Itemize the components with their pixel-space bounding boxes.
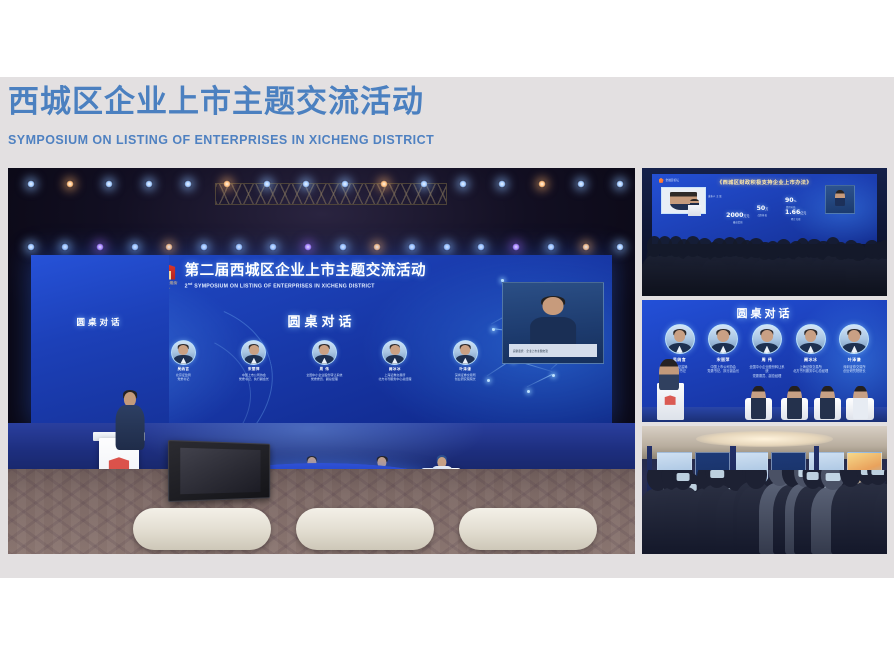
policy-stat: 90%费用补贴 [785,197,796,209]
panelist-avatar [796,324,826,354]
audience-crowd [642,217,887,296]
panelist-title: 深圳证券交易所创业研究院院长 [440,373,490,381]
panelist-avatar [839,324,869,354]
ceiling-lamp-icon [339,243,347,251]
policy-stat-value: 50万 [757,205,769,212]
panelist: 周 伟全国中小企业股份转让系统党委委员、副总经理 [300,340,350,382]
policy-stat-unit: 万 [765,207,768,211]
panelist-avatar [665,324,695,354]
ceiling-lamp-icon [373,243,381,251]
face-mask-icon [710,470,724,478]
side-led-panel: 圆桌对话 [31,255,169,425]
ceiling-lamp-icon [512,243,520,251]
ceiling-lamp-icon [408,243,416,251]
network-edge [526,374,551,387]
panelist: 阙冰冰上海证券交易所北方书刊服务中心总经理 [370,340,420,382]
photo-report-page: 西城区企业上市主题交流活动 SYMPOSIUM ON LISTING OF EN… [0,0,894,650]
panel-seating-area [745,378,882,422]
screen-panelist-row: 吴纳言北京证监局党委书记宋丽萍中国上市公司协会党委书记、执行副会长周 伟全国中小… [159,340,491,382]
panelist-avatar [171,340,196,365]
panelist-name: 叶泽谦 [440,367,490,372]
panelist-avatar [382,340,407,365]
panelist-name: 宋丽萍 [705,357,741,363]
panelist-name: 宋丽萍 [229,367,279,372]
ceiling-lamp-icon [582,243,590,251]
ceiling-lamp-icon [420,180,428,188]
ceiling-lamp-icon [341,180,349,188]
screen-title-cn: 第二届西城区企业上市主题交流活动 [185,264,427,280]
ceiling-lamp-icon [477,243,485,251]
policy-stat-value: 1.66亿元 [785,209,806,216]
ceiling-lamp-icon [302,180,310,188]
ceiling-lamp-icon [498,180,506,188]
panelist-title: 全国中小企业股份转让系统党委委员、副总经理 [300,373,350,381]
panel-seat [745,385,772,420]
ceiling-lamp-icon [263,180,271,188]
policy-presentation-photo[interactable]: 金融街论坛 《西城区财政积极支持企业上市办法》 发布人 王 某 2000万元最高… [642,168,887,296]
photo-gallery: 金融街论坛 金融街论坛系列活动 北京金融街 BEIJING FINANCIAL … [8,168,887,554]
panelist-row: 吴纳言北京证监局党委书记宋丽萍中国上市公司协会党委书记、执行副会长周 伟全国中小… [662,324,873,378]
ceiling-lamp-icon [96,243,104,251]
ceiling-lamp-icon [131,243,139,251]
roundtable-section-title: 圆桌对话 [642,305,887,321]
speaker-label: 发布人 王 某 [708,195,721,199]
attendee-crowd [642,470,887,554]
policy-stat-value: 90% [785,197,796,204]
page-subtitle: SYMPOSIUM ON LISTING OF ENTERPRISES IN X… [8,133,628,147]
ceiling-lamp-icon [145,180,153,188]
seated-panelist [820,386,835,419]
ceiling-lamp-icon [459,180,467,188]
panelist-title: 上海证券交易所北方书刊服务中心总经理 [370,373,420,381]
ceiling-lamp-icon [616,180,624,188]
screen-speaker-inset [825,185,854,214]
network-node-icon [527,390,530,393]
ceiling-lamp-icon [577,180,585,188]
standing-speaker [116,392,145,450]
standing-speaker [659,359,679,391]
panelist: 叶泽谦深圳证券交易所创业研究院院长 [440,340,490,382]
ceiling-lamp-row-lower [27,243,616,252]
panelist-title: 中国上市公司协会党委书记、执行副会长 [705,365,741,374]
face-mask-icon [677,473,690,481]
panelist-title: 上海证券交易所北方书刊服务中心总经理 [793,365,829,374]
inset-speaker-figure [530,297,576,349]
ceiling-lamp-row-upper [27,180,616,189]
ceiling-lamp-icon [547,243,555,251]
panelist-title: 全国中小企业股份转让系统党委委员、副总经理 [749,365,785,378]
screen-title-block: 北京金融街 BEIJING FINANCIAL STREET 第二届西城区企业上… [159,264,520,290]
panelist-avatar [312,340,337,365]
ceiling-lamp-icon [235,243,243,251]
panelist: 宋丽萍中国上市公司协会党委书记、执行副会长 [705,324,741,378]
panelist-avatar [708,324,738,354]
foreground-monitor [168,440,271,502]
foreground-seat [296,508,434,550]
ceiling-lamp-icon [538,180,546,188]
panelist-name: 周 伟 [749,357,785,363]
seated-panelist [787,386,802,419]
ceiling-lamp-icon [223,180,231,188]
panelist: 阙冰冰上海证券交易所北方书刊服务中心总经理 [793,324,829,378]
ceiling-lamp-icon [61,243,69,251]
ceiling-lamp-icon [184,180,192,188]
seated-panelist [751,386,766,419]
on-screen-podium [688,205,702,216]
screen-title-en-rest: SYMPOSIUM ON LISTING OF ENTERPRISES IN X… [193,284,375,290]
panel-seat [846,385,873,420]
screen-title-en: 2nd SYMPOSIUM ON LISTING OF ENTERPRISES … [185,282,427,290]
panelist-avatar [752,324,782,354]
roundtable-slide-photo[interactable]: 圆桌对话 吴纳言北京证监局党委书记宋丽萍中国上市公司协会党委书记、执行副会长周 … [642,300,887,422]
panelist: 宋丽萍中国上市公司协会党委书记、执行副会长 [229,340,279,382]
panelist-avatar [241,340,266,365]
exhibition-networking-photo[interactable] [642,426,887,554]
audience-member [873,258,887,296]
ceiling-lamp-icon [443,243,451,251]
panelist-name: 阙冰冰 [370,367,420,372]
panelist-title: 深圳证券交易所创业研究院院长 [836,365,872,374]
panelist-avatar [453,340,478,365]
ceiling-lamp-icon [380,180,388,188]
panelist: 周 伟全国中小企业股份转让系统党委委员、副总经理 [749,324,785,378]
ceiling-lamp-icon [27,180,35,188]
speaker-camera-inset: 演讲嘉宾 · 企业上市主题交流 [502,282,604,364]
inset-lower-third: 演讲嘉宾 · 企业上市主题交流 [509,344,597,357]
ceiling-lamp-icon [105,180,113,188]
policy-stat-unit: % [794,199,797,203]
face-mask-icon [806,472,819,480]
panelist: 叶泽谦深圳证券交易所创业研究院院长 [836,324,872,378]
panelist-name: 阙冰冰 [793,357,829,363]
panel-seat [781,385,808,420]
page-header: 西城区企业上市主题交流活动 SYMPOSIUM ON LISTING OF EN… [8,80,628,164]
ceiling-lamp-icon [66,180,74,188]
face-mask-icon [825,473,840,481]
policy-stat: 50万改制补贴 [757,205,769,217]
ceiling-lamp-icon [165,243,173,251]
seated-panelist [853,386,868,419]
side-led-panel-text: 圆桌对话 [31,316,169,328]
panel-seat [814,385,841,420]
panelist-name: 叶泽谦 [836,357,872,363]
attendee [874,486,887,554]
ceiling-lamp-icon [304,243,312,251]
foreground-seat [459,508,597,550]
panelist-name: 周 伟 [300,367,350,372]
panelist-title: 中国上市公司协会党委书记、执行副会长 [229,373,279,381]
main-stage-photo[interactable]: 金融街论坛 金融街论坛系列活动 北京金融街 BEIJING FINANCIAL … [8,168,635,554]
page-title: 西城区企业上市主题交流活动 [8,80,628,124]
policy-stat-unit: 亿元 [800,211,806,215]
foreground-seat [133,508,271,550]
ceiling-lamp-icon [27,243,35,251]
ceiling-lamp-icon [269,243,277,251]
ceiling-lamp-icon [200,243,208,251]
